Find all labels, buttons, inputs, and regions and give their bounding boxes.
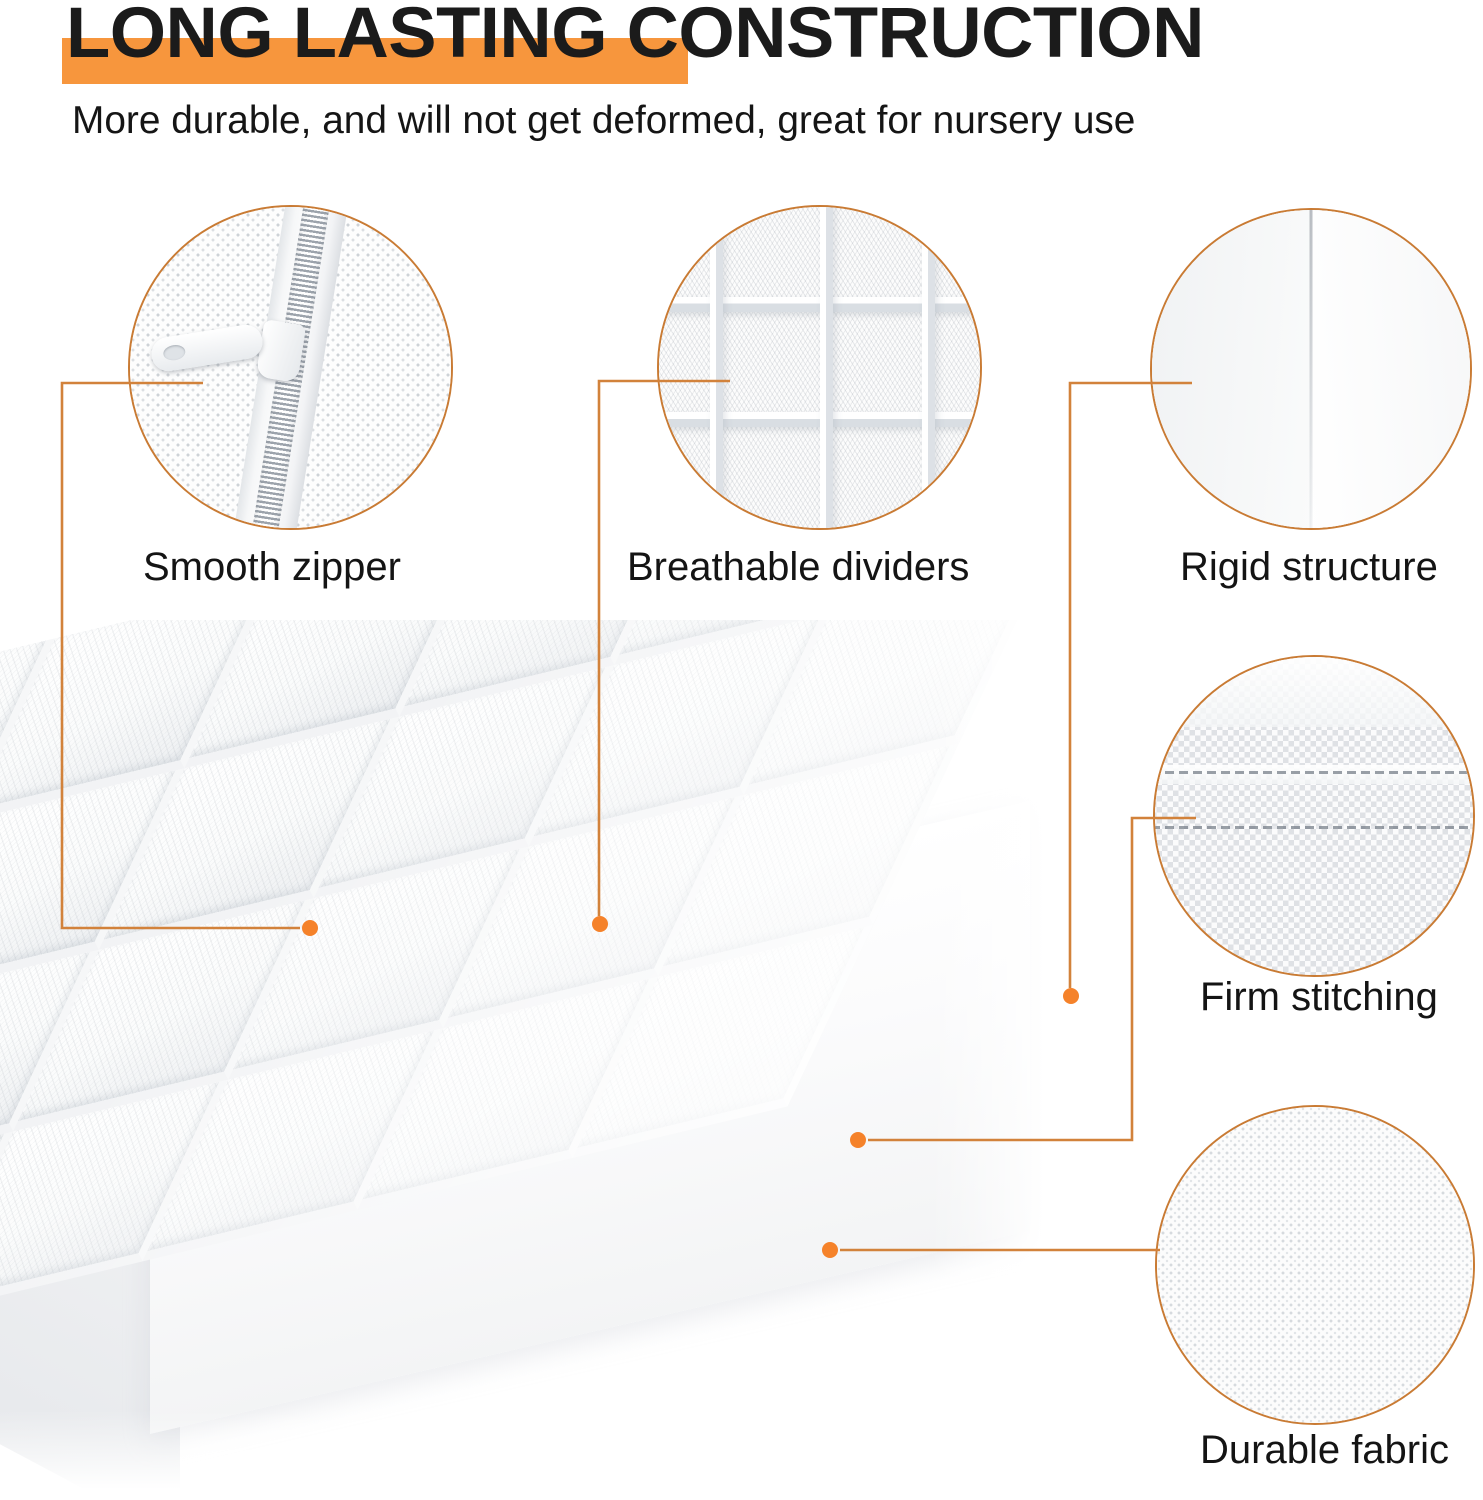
hotspot-dot-breathable-dividers[interactable] <box>592 916 608 932</box>
callout-label-breathable-dividers: Breathable dividers <box>627 545 969 589</box>
page-subtitle: More durable, and will not get deformed,… <box>72 98 1405 144</box>
hotspot-dot-smooth-zipper[interactable] <box>302 920 318 936</box>
image-fade-right <box>930 620 1080 1500</box>
corner-face-right <box>1311 208 1472 530</box>
callout-label-smooth-zipper: Smooth zipper <box>143 545 401 589</box>
image-fade-bottom <box>0 1410 1080 1500</box>
callout-label-firm-stitching: Firm stitching <box>1200 975 1438 1019</box>
callout-image-durable-fabric <box>1155 1105 1475 1425</box>
page-title: LONG LASTING CONSTRUCTION <box>66 0 1483 69</box>
durable-fabric-texture <box>1155 1105 1475 1425</box>
divider-vertical-3 <box>922 205 935 530</box>
hotspot-dot-durable-fabric[interactable] <box>822 1242 838 1258</box>
callout-image-breathable-dividers <box>657 205 982 530</box>
hotspot-dot-firm-stitching[interactable] <box>850 1132 866 1148</box>
divider-vertical-1 <box>710 205 723 530</box>
infographic-page: LONG LASTING CONSTRUCTION More durable, … <box>0 0 1483 1500</box>
corner-seam-edge <box>1310 208 1313 530</box>
corner-face-left <box>1150 208 1311 530</box>
callout-image-rigid-structure <box>1150 208 1472 530</box>
callout-image-firm-stitching <box>1153 655 1475 977</box>
callout-label-rigid-structure: Rigid structure <box>1180 545 1438 589</box>
stitch-band-top <box>1153 657 1475 727</box>
hotspot-dot-rigid-structure[interactable] <box>1063 988 1079 1004</box>
header-block: LONG LASTING CONSTRUCTION <box>0 0 1483 92</box>
seam-line-lower <box>1153 826 1475 829</box>
callout-label-durable-fabric: Durable fabric <box>1200 1428 1449 1472</box>
product-image <box>0 620 1080 1500</box>
stitch-band-middle <box>1153 765 1475 784</box>
divider-vertical-2 <box>820 205 833 530</box>
callout-image-smooth-zipper <box>128 205 453 530</box>
seam-line-upper <box>1153 771 1475 774</box>
